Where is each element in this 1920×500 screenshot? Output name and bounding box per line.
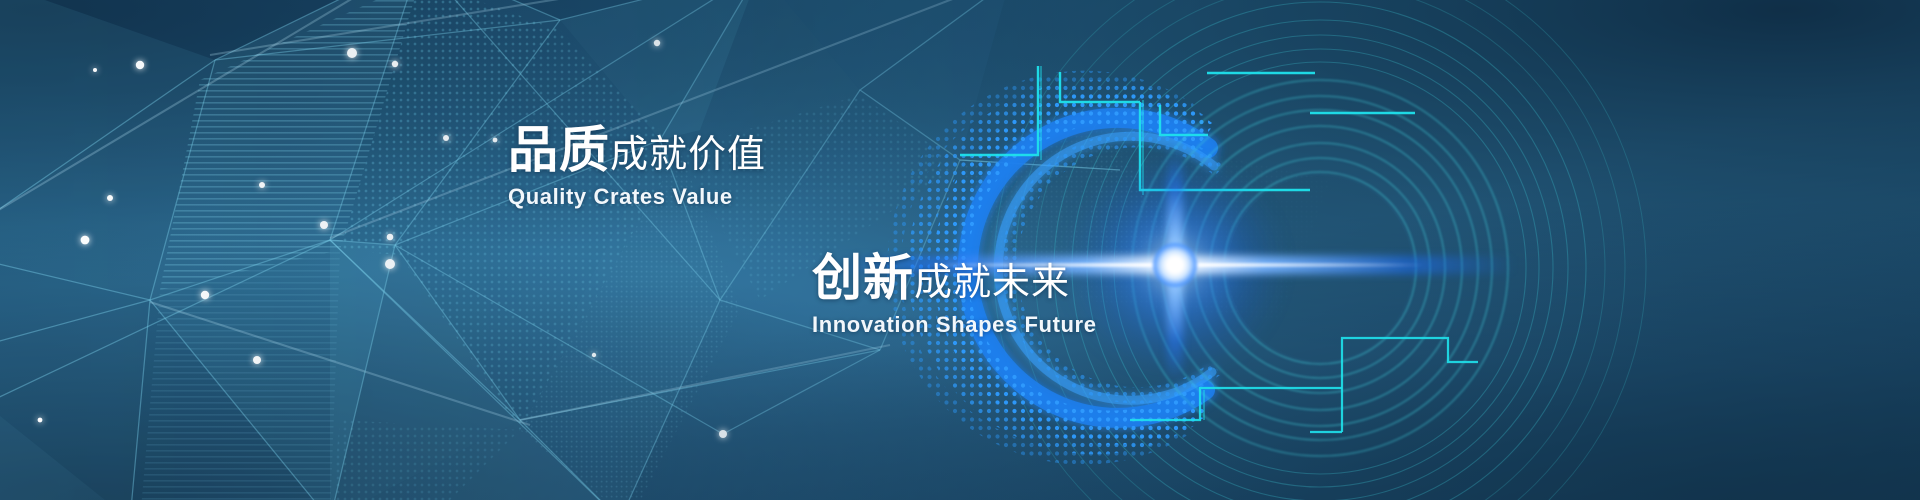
slogan-block-quality: 品质成就价值 Quality Crates Value	[508, 125, 766, 210]
slogan-headline-strong-innovation: 创新	[812, 250, 914, 306]
slogan-headline-light-innovation: 成就未来	[914, 262, 1070, 304]
circuit-trace-layer	[0, 0, 1920, 500]
slogan-headline-strong-quality: 品质	[508, 122, 610, 178]
slogan-subtitle-quality: Quality Crates Value	[508, 184, 766, 210]
circuit-traces-bottom	[1130, 338, 1478, 432]
slogan-headline-quality: 品质成就价值	[508, 125, 766, 175]
circuit-trace-svg	[0, 0, 1920, 500]
slogan-block-innovation: 创新成就未来 Innovation Shapes Future	[812, 253, 1097, 338]
slogan-headline-light-quality: 成就价值	[610, 134, 766, 176]
circuit-traces-top	[960, 66, 1415, 190]
hero-banner: 品质成就价值 Quality Crates Value 创新成就未来 Innov…	[0, 0, 1920, 500]
slogan-subtitle-innovation: Innovation Shapes Future	[812, 312, 1097, 338]
slogan-headline-innovation: 创新成就未来	[812, 253, 1097, 303]
circuit-traces-thin	[1041, 66, 1204, 420]
